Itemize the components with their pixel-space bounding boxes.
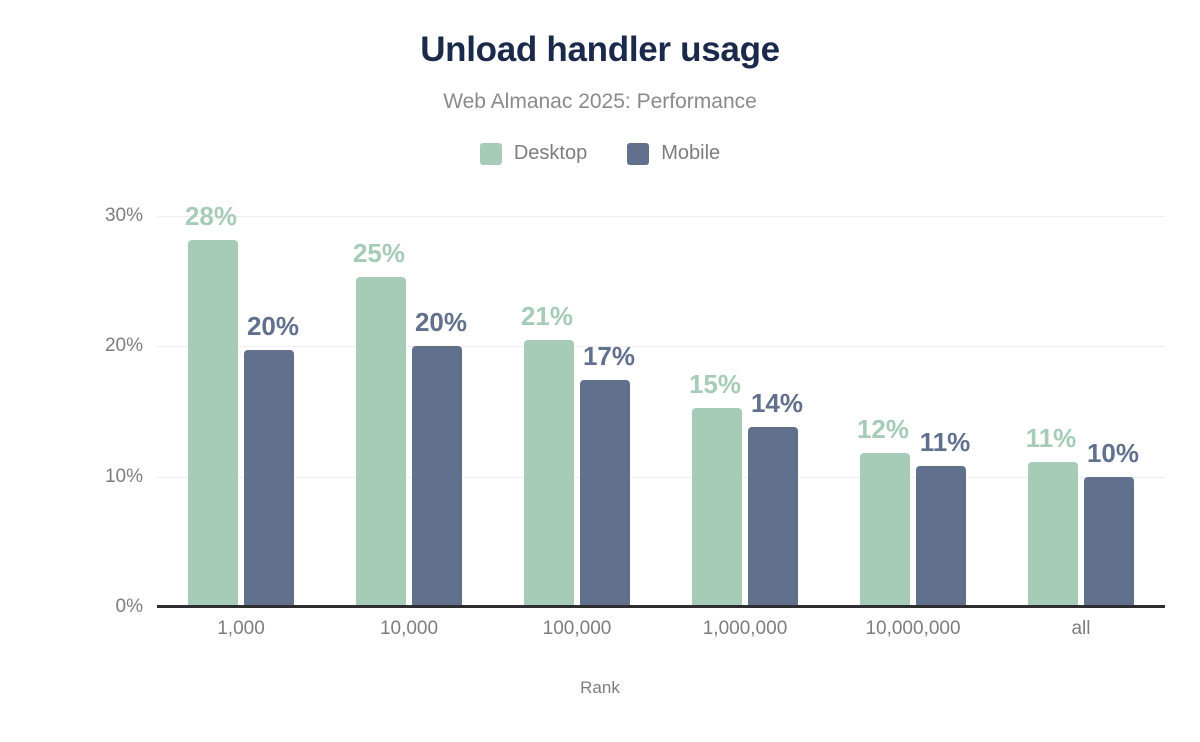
- bar-desktop-0[interactable]: [188, 240, 238, 607]
- bar-mobile-4[interactable]: [916, 466, 966, 607]
- x-tick-label: 10,000,000: [865, 618, 960, 640]
- bar-value-label-desktop-1: 25%: [353, 238, 405, 269]
- legend-item-mobile[interactable]: Mobile: [627, 142, 720, 165]
- x-axis-title: Rank: [0, 678, 1200, 698]
- bar-desktop-4[interactable]: [860, 453, 910, 607]
- bar-desktop-5[interactable]: [1028, 462, 1078, 607]
- y-tick-label: 20%: [20, 335, 143, 357]
- bar-mobile-2[interactable]: [580, 380, 630, 607]
- bar-value-label-mobile-1: 20%: [415, 307, 467, 338]
- bar-desktop-2[interactable]: [524, 340, 574, 607]
- bar-value-label-mobile-5: 10%: [1087, 438, 1139, 469]
- y-tick-label: 10%: [20, 466, 143, 488]
- legend-swatch-desktop: [480, 143, 502, 165]
- bar-mobile-1[interactable]: [412, 346, 462, 607]
- gridline: [157, 346, 1165, 347]
- plot-area: 28%20%25%20%21%17%15%14%12%11%11%10%: [157, 190, 1165, 607]
- y-tick-label: 0%: [20, 596, 143, 618]
- x-tick-label: 100,000: [543, 618, 612, 640]
- bar-value-label-desktop-0: 28%: [185, 201, 237, 232]
- y-tick-label: 30%: [20, 205, 143, 227]
- chart-legend: Desktop Mobile: [0, 142, 1200, 165]
- bar-mobile-5[interactable]: [1084, 477, 1134, 607]
- chart-container: Unload handler usage Web Almanac 2025: P…: [0, 0, 1200, 742]
- bar-value-label-mobile-4: 11%: [920, 427, 971, 458]
- x-tick-label: 10,000: [380, 618, 438, 640]
- legend-swatch-mobile: [627, 143, 649, 165]
- x-tick-label: 1,000: [217, 618, 265, 640]
- bar-desktop-1[interactable]: [356, 277, 406, 607]
- legend-label-mobile: Mobile: [661, 142, 720, 165]
- bar-value-label-mobile-2: 17%: [583, 341, 635, 372]
- chart-subtitle: Web Almanac 2025: Performance: [0, 90, 1200, 114]
- bar-mobile-0[interactable]: [244, 350, 294, 607]
- bar-value-label-mobile-3: 14%: [751, 388, 803, 419]
- legend-item-desktop[interactable]: Desktop: [480, 142, 587, 165]
- bar-value-label-mobile-0: 20%: [247, 311, 299, 342]
- bar-value-label-desktop-4: 12%: [857, 414, 909, 445]
- bar-value-label-desktop-5: 11%: [1026, 423, 1077, 454]
- gridline: [157, 216, 1165, 217]
- x-tick-label: all: [1071, 618, 1090, 640]
- bar-value-label-desktop-2: 21%: [521, 301, 573, 332]
- x-tick-label: 1,000,000: [703, 618, 788, 640]
- chart-title: Unload handler usage: [0, 30, 1200, 70]
- x-axis-baseline: [157, 605, 1165, 608]
- gridline: [157, 477, 1165, 478]
- bar-mobile-3[interactable]: [748, 427, 798, 607]
- bar-value-label-desktop-3: 15%: [689, 369, 741, 400]
- legend-label-desktop: Desktop: [514, 142, 587, 165]
- bar-desktop-3[interactable]: [692, 408, 742, 607]
